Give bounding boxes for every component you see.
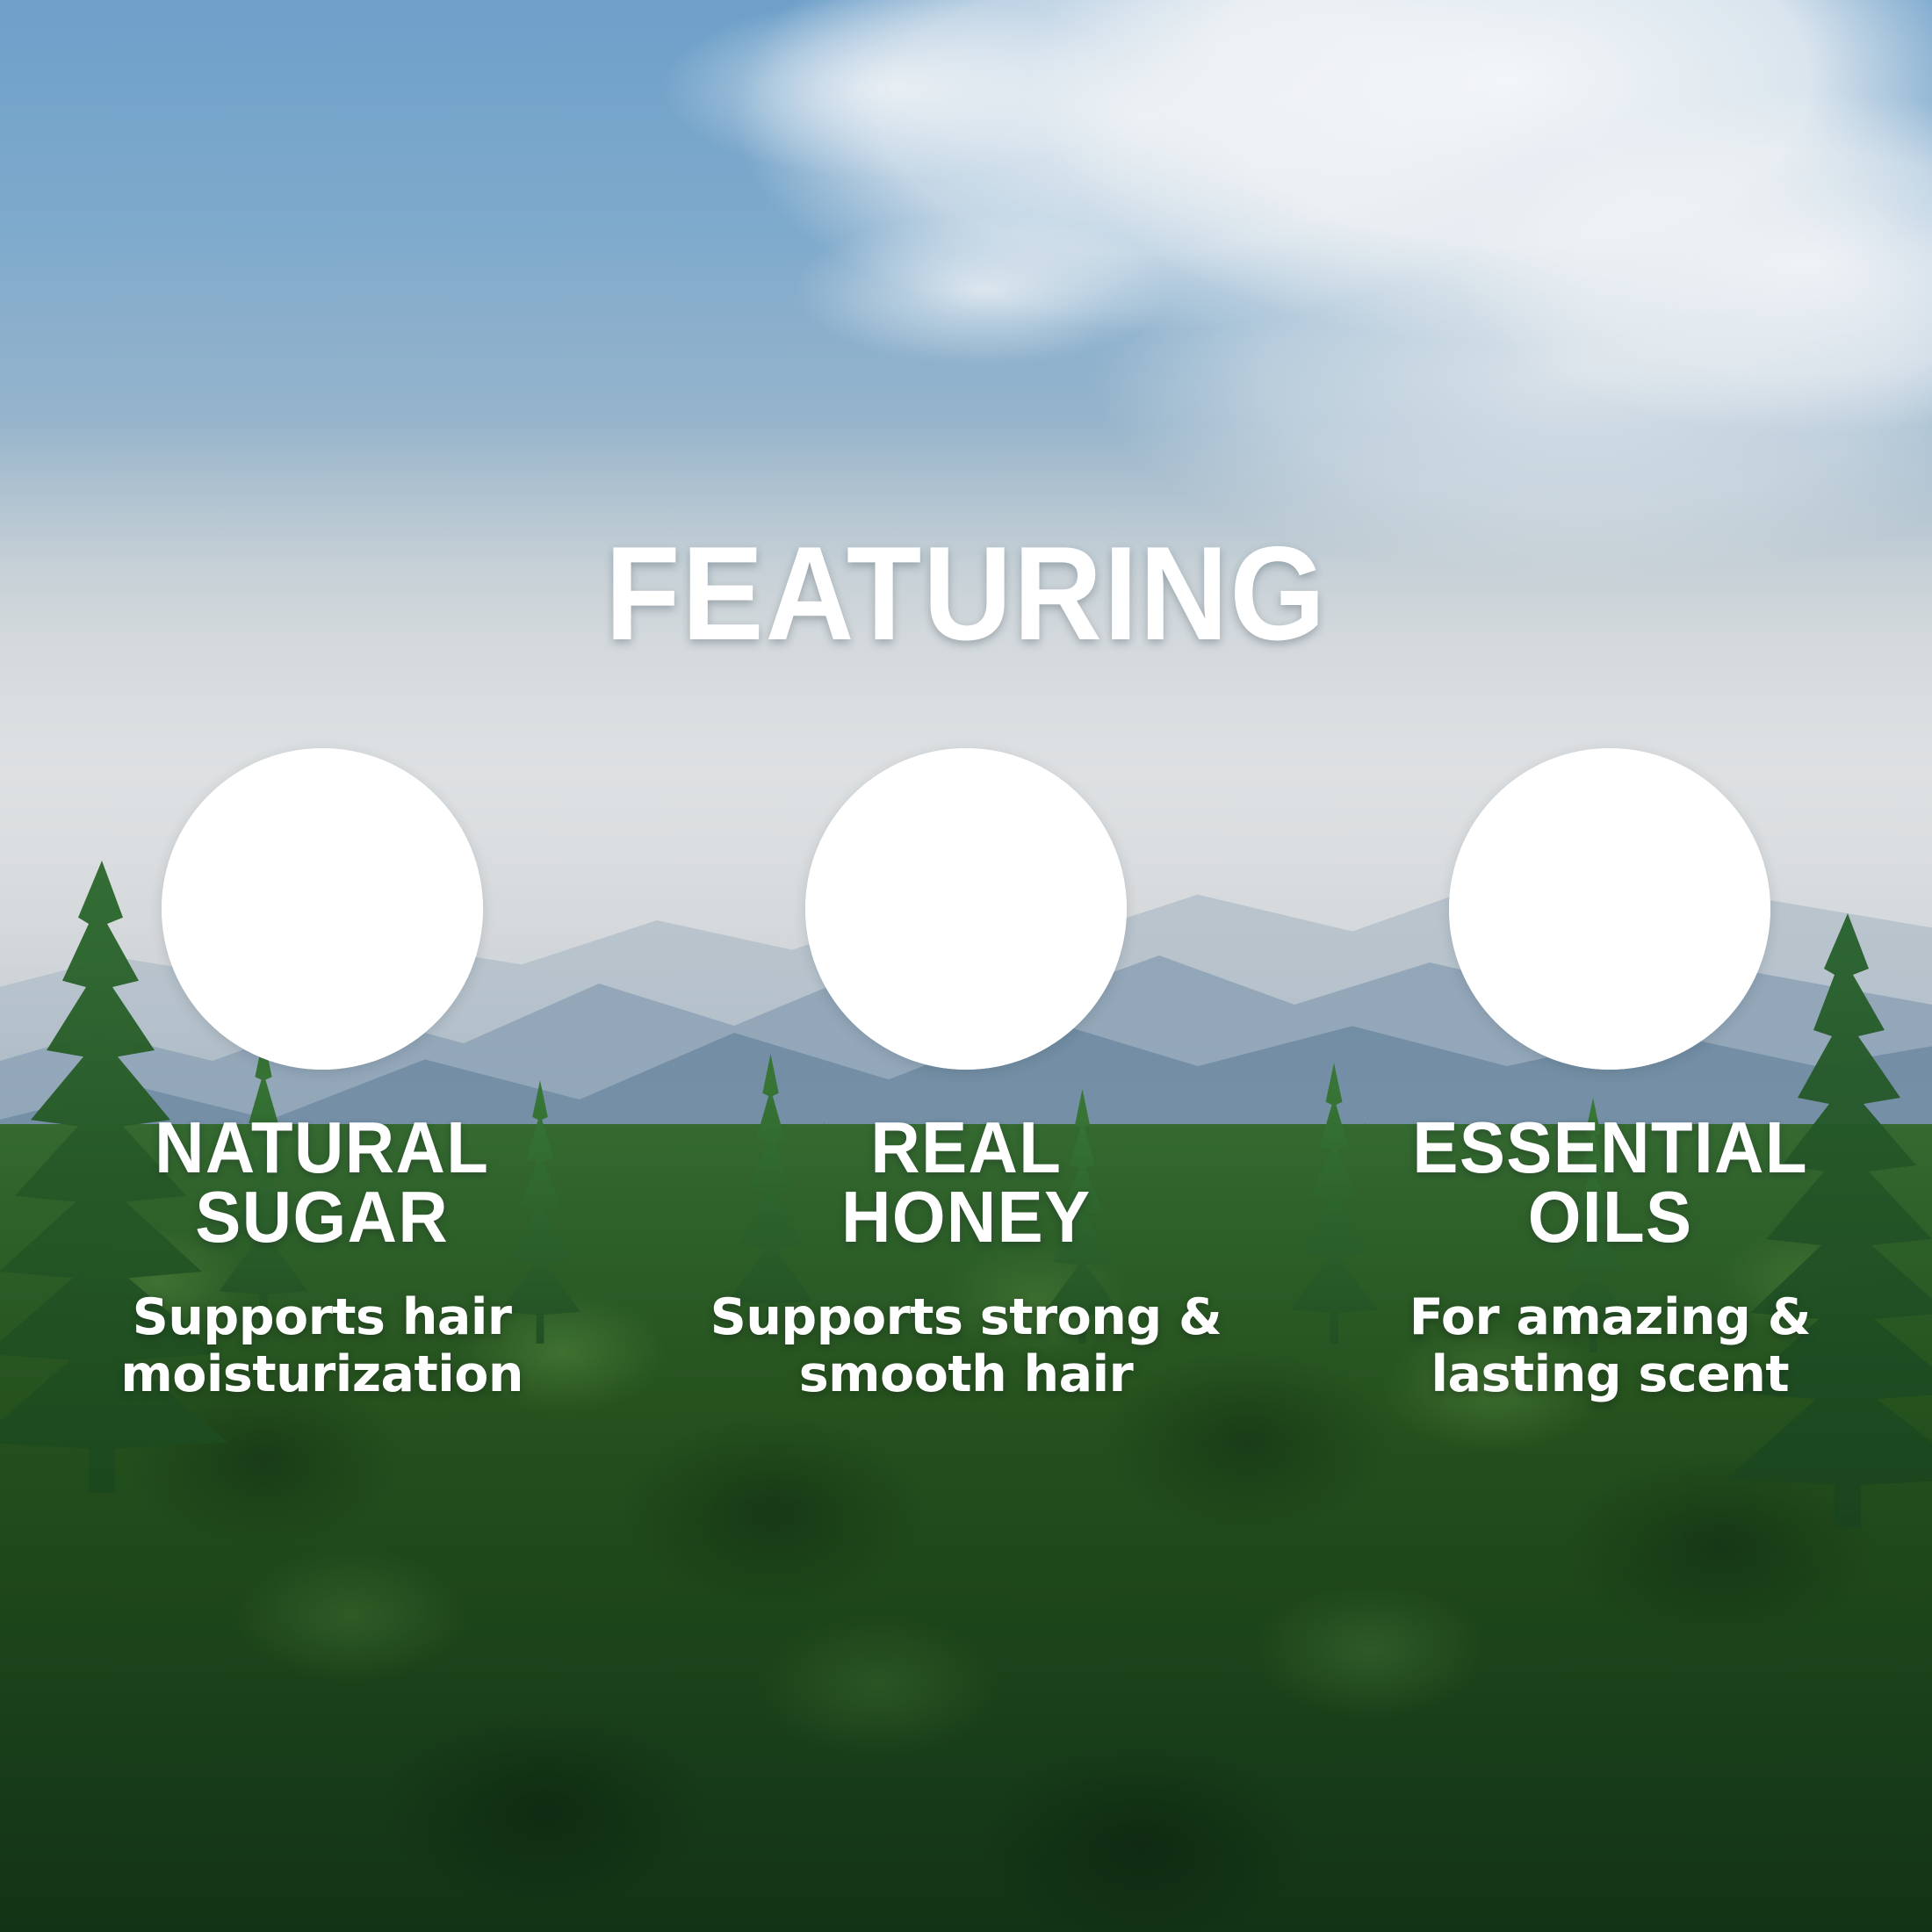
content-overlay: FEATURING NATURAL	[0, 0, 1932, 1932]
dumbbell-icon	[805, 748, 1127, 1070]
feature-columns: NATURAL SUGAR Supports hair moisturizati…	[0, 748, 1932, 1403]
feature-column-essential-oils: ESSENTIAL OILS For amazing & lasting sce…	[1288, 748, 1932, 1403]
description-line-1: For amazing &	[1409, 1289, 1811, 1346]
shield-icon	[162, 748, 483, 1070]
page-title: FEATURING	[77, 527, 1855, 660]
dumbbell-badge	[805, 748, 1127, 1070]
droplet-badge	[1449, 748, 1770, 1070]
description-line-1: Supports strong &	[710, 1289, 1222, 1346]
heading-line-2: OILS	[1412, 1183, 1808, 1252]
shield-badge	[162, 748, 483, 1070]
feature-column-real-honey: REAL HONEY Supports strong & smooth hair	[644, 748, 1287, 1403]
description-line-1: Supports hair	[120, 1289, 523, 1346]
feature-description: For amazing & lasting scent	[1409, 1289, 1811, 1403]
feature-description: Supports hair moisturization	[120, 1289, 523, 1403]
feature-heading: ESSENTIAL OILS	[1412, 1114, 1808, 1252]
feature-column-natural-sugar: NATURAL SUGAR Supports hair moisturizati…	[0, 748, 644, 1403]
description-line-2: moisturization	[120, 1346, 523, 1403]
feature-heading: NATURAL SUGAR	[155, 1114, 489, 1252]
heading-line-1: NATURAL	[155, 1114, 489, 1183]
infographic-stage: FEATURING NATURAL	[0, 0, 1932, 1932]
heading-line-2: SUGAR	[155, 1183, 489, 1252]
feature-description: Supports strong & smooth hair	[710, 1289, 1222, 1403]
droplet-icon	[1449, 748, 1770, 1070]
description-line-2: smooth hair	[710, 1346, 1222, 1403]
heading-line-1: REAL	[841, 1114, 1092, 1183]
feature-heading: REAL HONEY	[841, 1114, 1092, 1252]
description-line-2: lasting scent	[1409, 1346, 1811, 1403]
heading-line-2: HONEY	[841, 1183, 1092, 1252]
heading-line-1: ESSENTIAL	[1412, 1114, 1808, 1183]
